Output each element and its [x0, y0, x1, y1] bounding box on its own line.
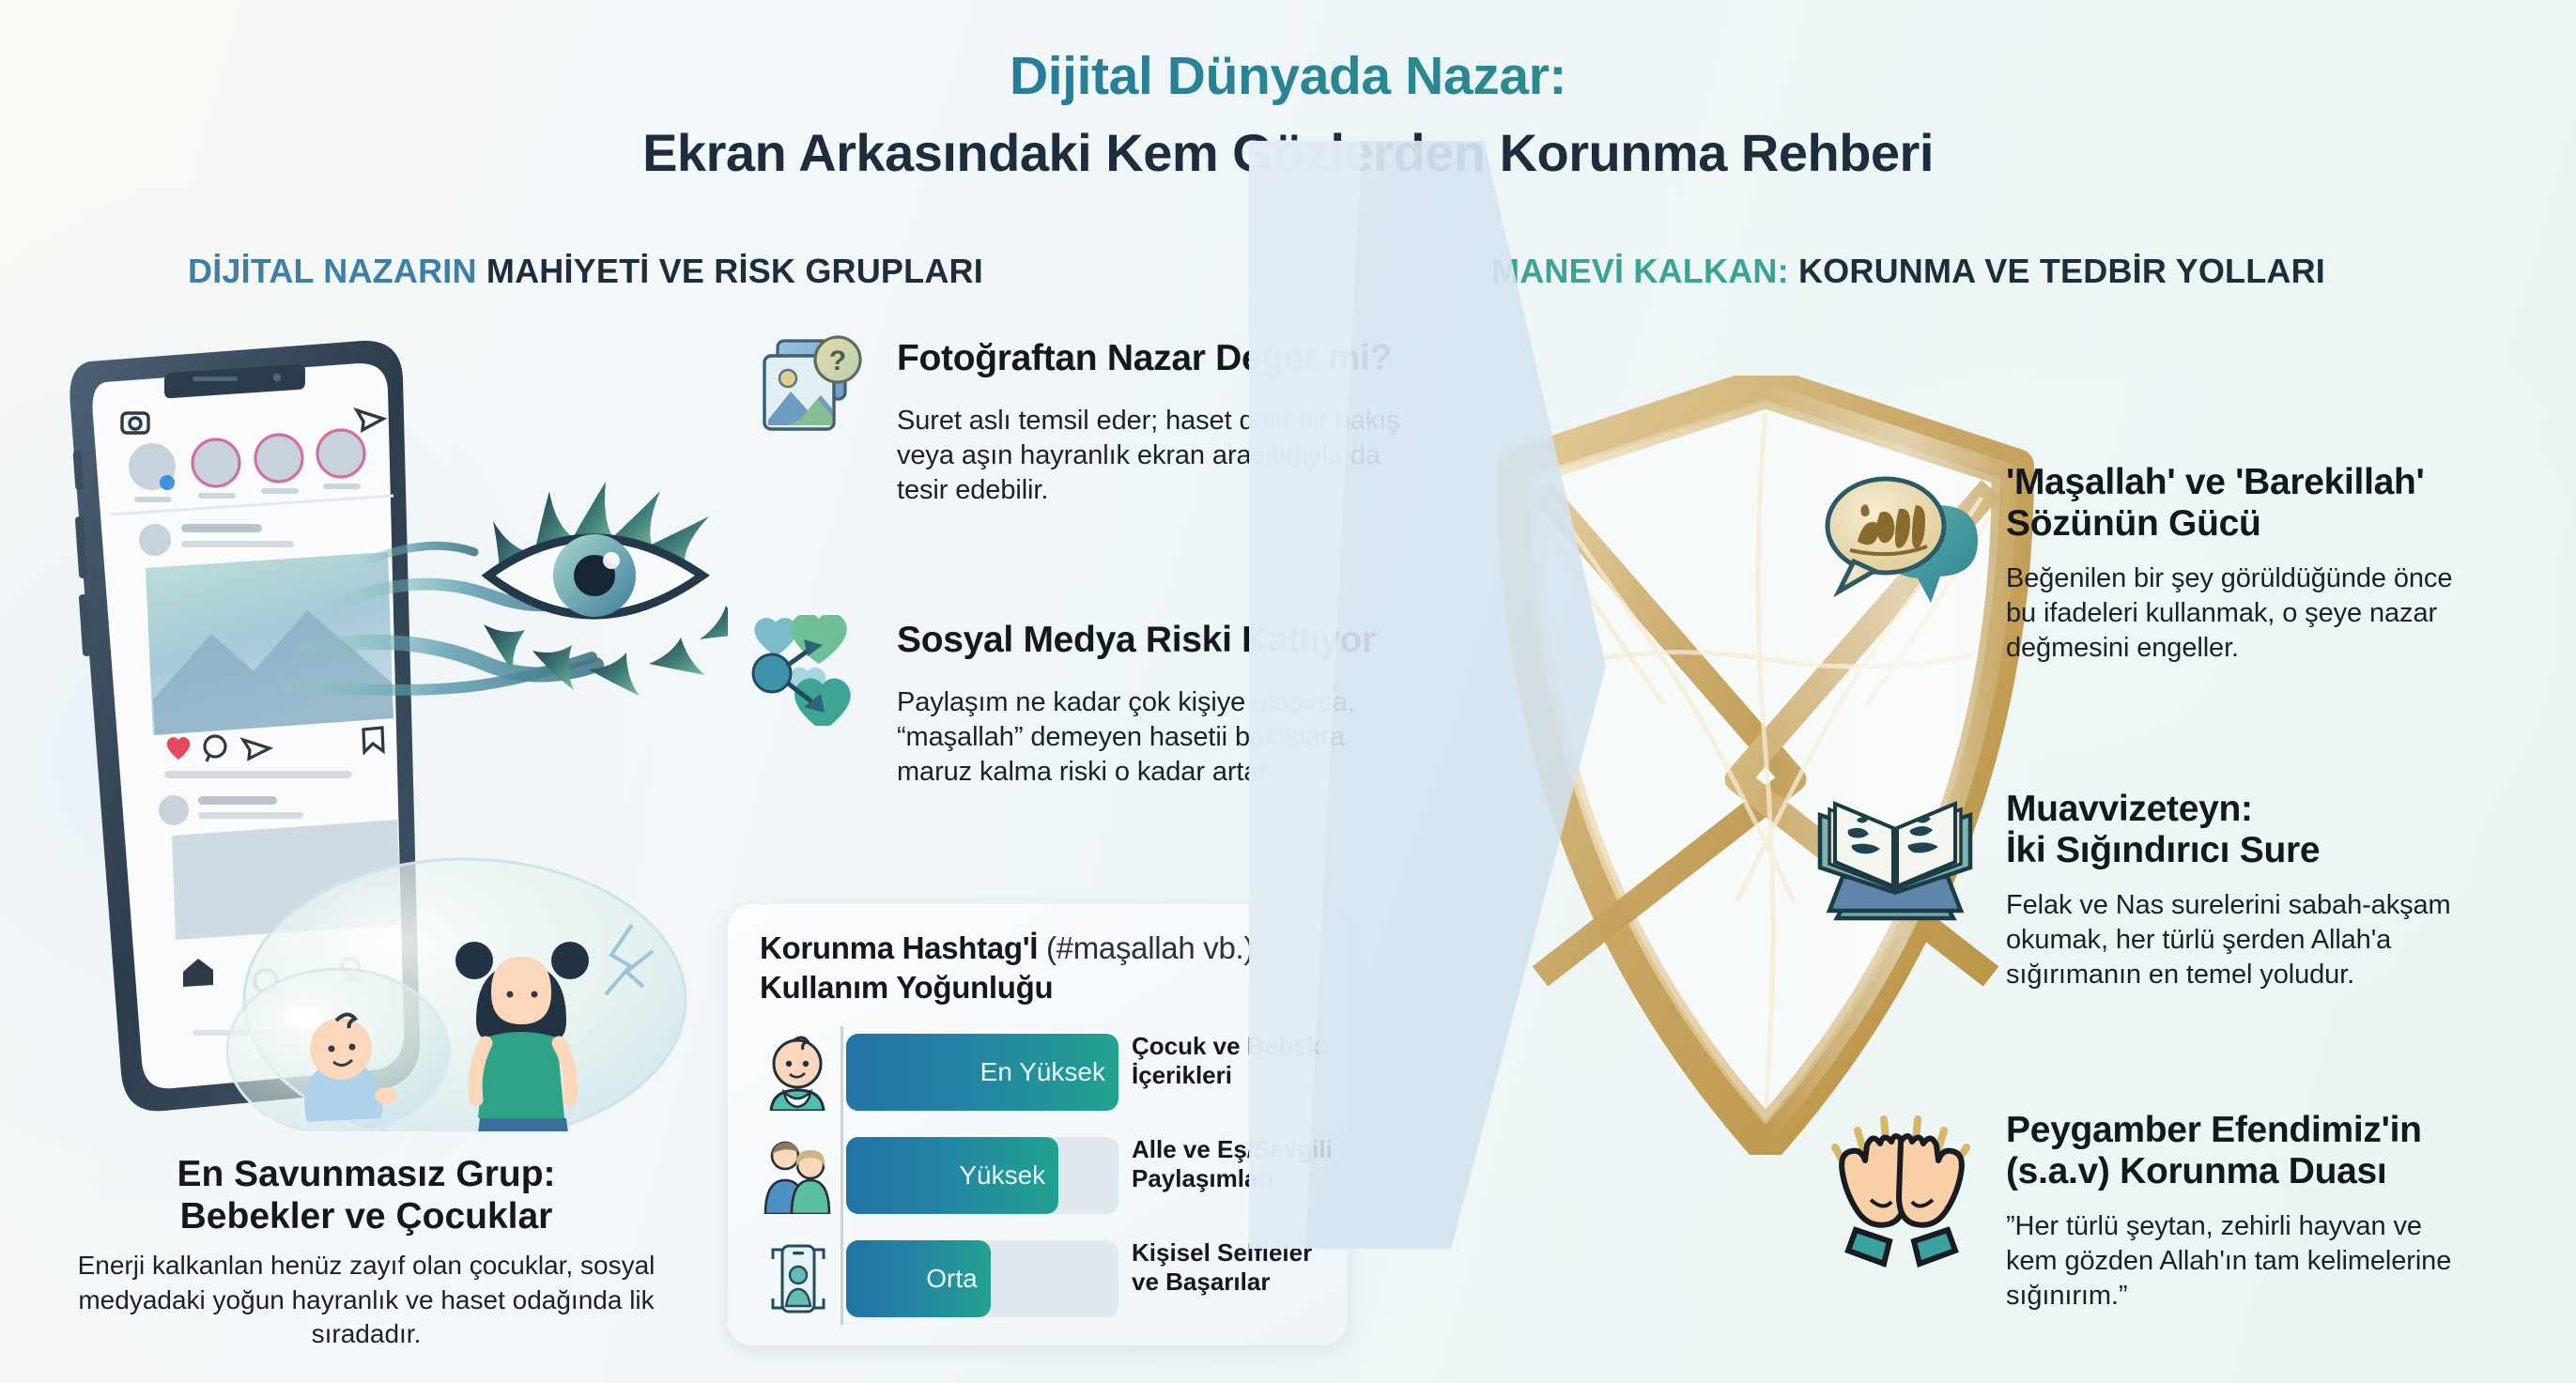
chart-title: Korunma Hashtag'İ (#maşallah vb.) Kullan… — [760, 929, 1323, 1007]
right-block-2-body: Felak ve Nas surelerini sabah-akşam okum… — [2006, 888, 2485, 991]
baby-icon — [762, 1034, 833, 1111]
share-hearts-icon — [751, 615, 866, 726]
chart-bar: En Yüksek — [846, 1034, 1118, 1111]
evil-eye-icon — [484, 482, 728, 696]
right-block-2: Muavvizeteyn: İki Sığındırıcı Sure Felak… — [2006, 789, 2494, 992]
right-block-2-heading: Muavvizeteyn: İki Sığındırıcı Sure — [2006, 789, 2494, 871]
phone-evil-eye-illustration — [52, 324, 728, 1131]
selfie-phone-icon — [762, 1240, 833, 1317]
chart-bar-value: Yüksek — [959, 1137, 1045, 1214]
section-header-left: DİJİTAL NAZARIN MAHİYETİ VE RİSK GRUPLAR… — [188, 252, 983, 291]
right-block-1-heading: 'Maşallah' ve 'Barekillah' Sözünün Gücü — [2006, 462, 2494, 545]
section-header-right-rest: KORUNMA VE TEDBİR YOLLARI — [1798, 252, 2325, 290]
chart-track: Orta — [846, 1240, 1118, 1317]
left-caption-body: Enerji kalkanlan henüz zayıf olan çocukl… — [28, 1249, 704, 1351]
chart-track: Yüksek — [846, 1137, 1118, 1214]
photo-question-icon: ? — [759, 333, 868, 442]
chart-row: En Yüksek Çocuk ve Bebek İçerikleri — [756, 1028, 1329, 1116]
right-block-3: Peygamber Efendimiz'in (s.a.v) Korunma D… — [2006, 1110, 2494, 1314]
hashtag-bar-chart: En Yüksek Çocuk ve Bebek İçerikleri — [756, 1026, 1329, 1327]
right-block-3-body: ”Her türlü şeytan, zehirli hayvan ve kem… — [2006, 1209, 2466, 1313]
right-block-1: 'Maşallah' ve 'Barekillah' Sözünün Gücü … — [2006, 462, 2494, 666]
couple-icon — [762, 1137, 833, 1214]
left-caption-heading: En Savunmasız Grup: Bebekler ve Çocuklar — [28, 1153, 704, 1237]
chart-row: Yüksek Alle ve Eş/Sevgili Paylaşımları — [756, 1131, 1329, 1220]
speech-bubble-arabic-icon — [1822, 468, 1982, 618]
left-caption: En Savunmasız Grup: Bebekler ve Çocuklar… — [28, 1153, 704, 1352]
svg-text:?: ? — [829, 346, 846, 376]
chart-bar-value: Orta — [926, 1240, 977, 1317]
open-quran-icon — [1811, 787, 1980, 937]
right-block-3-heading: Peygamber Efendimiz'in (s.a.v) Korunma D… — [2006, 1110, 2494, 1192]
section-divider — [1249, 141, 1775, 1249]
chart-bar-value: En Yüksek — [980, 1034, 1105, 1111]
section-header-left-highlight: DİJİTAL NAZARIN — [188, 252, 477, 290]
praying-hands-icon — [1812, 1110, 1991, 1274]
chart-track: En Yüksek — [846, 1034, 1118, 1111]
section-header-left-rest: MAHİYETİ VE RİSK GRUPLARI — [486, 252, 983, 290]
chart-bar: Yüksek — [846, 1137, 1058, 1214]
chart-row: Orta Kişisel Selfieler ve Başarılar — [756, 1235, 1329, 1323]
chart-bar: Orta — [846, 1240, 991, 1317]
page-title: Dijital Dünyada Nazar: — [0, 45, 2576, 107]
right-block-1-body: Beğenilen bir şey görüldüğünde önce bu i… — [2006, 561, 2480, 665]
